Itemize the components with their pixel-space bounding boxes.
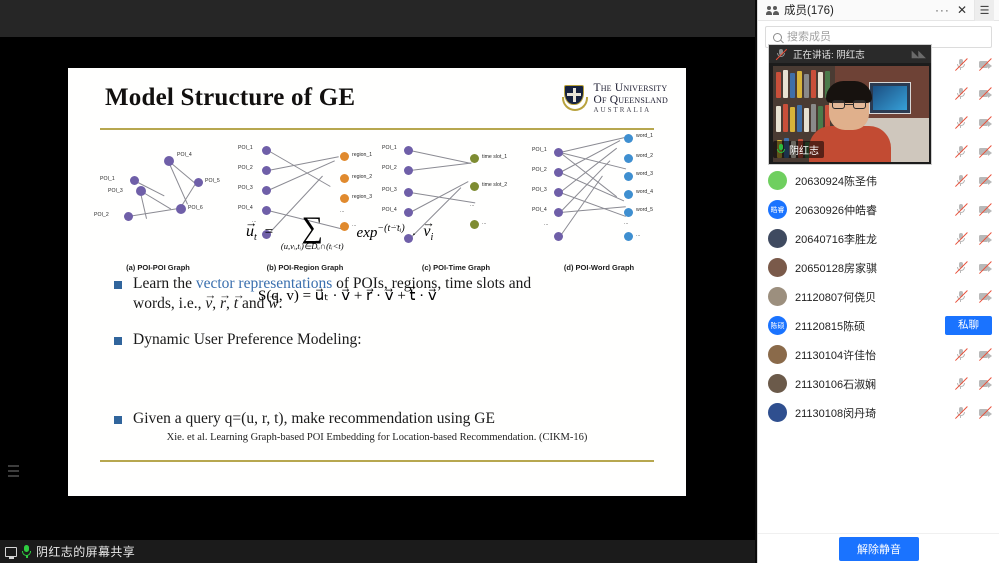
shared-screen-stage: Model Structure of GE The University Of …	[0, 0, 755, 563]
mic-muted-icon[interactable]	[954, 204, 968, 216]
participant-name: 21120815陈硕	[795, 318, 937, 334]
bullet-square-icon	[114, 337, 122, 345]
camera-off-icon[interactable]	[978, 349, 992, 361]
speaking-label: 正在讲话: 阴红志	[793, 47, 906, 61]
camera-off-icon[interactable]	[978, 233, 992, 245]
mic-muted-icon[interactable]	[954, 291, 968, 303]
camera-off-icon[interactable]	[978, 291, 992, 303]
participant-name: 20650128房家骐	[795, 260, 946, 276]
participant-name: 20640716李胜龙	[795, 231, 946, 247]
people-icon	[766, 5, 779, 15]
camera-off-icon[interactable]	[978, 117, 992, 129]
node-label: POI_1	[238, 145, 253, 151]
mic-muted-icon	[775, 48, 787, 60]
eq1-sigma-subscript: (u,vᵢ,tᵢ)∈Dᵤ∩(tᵢ<t)	[281, 241, 344, 252]
node-label: POI_1	[532, 147, 547, 153]
participant-name: 20630926仲皓睿	[795, 202, 946, 218]
graph-caption: (c) POI-Time Graph	[382, 263, 530, 272]
avatar	[768, 171, 787, 190]
uq-logo-line3: AUSTRALIA	[593, 107, 668, 114]
participants-panel: 成员(176) ··· ✕ ☰ 18130335班平平 205	[757, 0, 999, 563]
mic-muted-icon[interactable]	[954, 407, 968, 419]
annotation-list-icon[interactable]	[6, 462, 22, 480]
node-label: word_3	[636, 171, 653, 177]
node-label: POI_3	[532, 187, 547, 193]
eq1-exp-sup: −(t−tᵢ)	[377, 223, 404, 234]
participants-panel-footer: 解除静音	[758, 533, 999, 563]
camera-off-icon[interactable]	[978, 146, 992, 158]
bullet-1-line2-pre: words, i.e.,	[133, 295, 205, 312]
camera-off-icon[interactable]	[978, 262, 992, 274]
node-label: POI_3	[382, 187, 397, 193]
node-label: POI_2	[532, 167, 547, 173]
avatar: 皓睿	[768, 200, 787, 219]
camera-off-icon[interactable]	[978, 204, 992, 216]
close-icon[interactable]: ✕	[955, 3, 969, 17]
list-item[interactable]: 陈硕 21120815陈硕 私聊	[758, 311, 999, 340]
uq-logo: The University Of Queensland AUSTRALIA	[562, 82, 668, 115]
mic-active-icon	[776, 144, 786, 156]
equation-score: S(q, v) = u⃗ₜ · v⃗ + r⃗ · v⃗ + t⃗ · v⃗	[258, 286, 437, 305]
node-label: POI_3	[238, 185, 253, 191]
node-label: POI_4	[238, 205, 253, 211]
node-label: POI_4	[382, 207, 397, 213]
screen-share-status-bar: 阴红志的屏幕共享	[0, 540, 755, 563]
avatar: 陈硕	[768, 316, 787, 335]
bullet-square-icon	[114, 281, 122, 289]
participants-panel-header: 成员(176) ··· ✕ ☰	[758, 0, 999, 21]
mic-muted-icon[interactable]	[954, 233, 968, 245]
avatar	[768, 287, 787, 306]
node-label: word_1	[636, 133, 653, 139]
node-label: region_1	[352, 152, 372, 158]
list-item[interactable]: 皓睿 20630926仲皓睿	[758, 195, 999, 224]
node-label: ...	[624, 220, 628, 226]
participant-name: 21120807何侥贝	[795, 289, 946, 305]
mic-muted-icon[interactable]	[954, 59, 968, 71]
node-label: POI_4	[177, 152, 192, 158]
monitor-icon	[5, 547, 17, 557]
eq1-equals: =	[264, 224, 274, 241]
bullet-2-text: Dynamic User Preference Modeling:	[133, 330, 362, 350]
node-label: ...	[482, 220, 486, 226]
camera-off-icon[interactable]	[978, 59, 992, 71]
unmute-button[interactable]: 解除静音	[839, 537, 919, 561]
search-input[interactable]	[787, 31, 984, 43]
list-item[interactable]: 21120807何侥贝	[758, 282, 999, 311]
hamburger-menu-icon[interactable]: ☰	[974, 0, 994, 21]
camera-off-icon[interactable]	[978, 378, 992, 390]
sigma-icon: ∑	[281, 214, 344, 243]
more-options-icon[interactable]: ···	[935, 3, 950, 17]
node-label: region_3	[352, 194, 372, 200]
speaker-name: 阴红志	[789, 142, 819, 157]
node-label: time slot_2	[482, 182, 507, 188]
search-icon	[773, 33, 782, 42]
node-label: POI_2	[382, 165, 397, 171]
participant-name: 21130104许佳怡	[795, 347, 946, 363]
bullet-square-icon	[114, 416, 122, 424]
node-label: POI_1	[100, 176, 115, 182]
node-label: ...	[544, 221, 548, 227]
node-label: ...	[636, 232, 640, 238]
node-label: ...	[470, 202, 474, 208]
mic-muted-icon[interactable]	[954, 349, 968, 361]
mic-muted-icon[interactable]	[954, 378, 968, 390]
node-label: POI_3	[108, 188, 123, 194]
avatar	[768, 258, 787, 277]
camera-off-icon[interactable]	[978, 175, 992, 187]
list-item[interactable]: 20640716李胜龙	[758, 224, 999, 253]
camera-off-icon[interactable]	[978, 407, 992, 419]
graph-caption: (a) POI-POI Graph	[88, 263, 228, 272]
speaker-name-badge: 阴红志	[773, 141, 824, 158]
bullet-1-pre: Learn the	[133, 275, 196, 292]
avatar	[768, 345, 787, 364]
mic-muted-icon[interactable]	[954, 146, 968, 158]
node-label: word_5	[636, 207, 653, 213]
private-chat-button[interactable]: 私聊	[945, 316, 992, 335]
screen-share-label: 阴红志的屏幕共享	[36, 543, 135, 560]
eq1-lhs-sub: t	[254, 232, 257, 243]
node-label: POI_5	[205, 178, 220, 184]
uq-logo-line1: The University	[593, 82, 668, 94]
active-speaker-video[interactable]: 正在讲话: 阴红志 ◣◣	[768, 44, 932, 165]
graph-caption: (d) POI-Word Graph	[532, 263, 666, 272]
participant-name: 21130106石淑娴	[795, 376, 946, 392]
slide-citation: Xie. et al. Learning Graph-based POI Emb…	[68, 432, 686, 443]
avatar	[768, 374, 787, 393]
node-label: word_4	[636, 189, 653, 195]
participants-title: 成员(176)	[784, 2, 930, 18]
slide-title: Model Structure of GE	[105, 84, 355, 112]
mic-on-icon	[21, 545, 32, 558]
list-item[interactable]: 20650128房家骐	[758, 253, 999, 282]
node-label: POI_2	[94, 212, 109, 218]
mic-muted-icon[interactable]	[954, 262, 968, 274]
list-item[interactable]: 21130104许佳怡	[758, 340, 999, 369]
participant-name: 21130108闵丹琦	[795, 405, 946, 421]
bullet-3-text: Given a query q=(u, r, t), make recommen…	[133, 409, 495, 429]
graph-panel-poi-poi: POI_1 POI_2 POI_3 POI_4 POI_5 POI_6 (a) …	[88, 132, 228, 272]
stage-topbar	[0, 0, 755, 37]
avatar	[768, 403, 787, 422]
node-label: POI_1	[382, 145, 397, 151]
mic-muted-icon[interactable]	[954, 175, 968, 187]
uq-logo-line2: Of Queensland	[593, 94, 668, 106]
participant-name: 20630924陈圣伟	[795, 173, 946, 189]
network-signal-icon: ◣◣	[912, 49, 925, 60]
slide-rule-top	[100, 128, 654, 130]
list-item[interactable]: 20630924陈圣伟	[758, 166, 999, 195]
zoom-meeting-window: Model Structure of GE The University Of …	[0, 0, 999, 563]
node-label: POI_2	[238, 165, 253, 171]
avatar	[768, 229, 787, 248]
node-label: POI_6	[188, 205, 203, 211]
bullet-item-3: Given a query q=(u, r, t), make recommen…	[114, 409, 659, 429]
active-speaker-header: 正在讲话: 阴红志 ◣◣	[769, 45, 931, 63]
equation-user-preference: →ut = ∑ (u,vᵢ,tᵢ)∈Dᵤ∩(tᵢ<t) exp−(t−tᵢ) ·…	[246, 214, 433, 252]
uq-crest-icon	[562, 84, 588, 112]
presentation-slide: Model Structure of GE The University Of …	[68, 68, 686, 496]
mic-muted-icon[interactable]	[954, 117, 968, 129]
slide-rule-bottom	[100, 460, 654, 462]
camera-off-icon[interactable]	[978, 88, 992, 100]
graph-caption: (b) POI-Region Graph	[230, 263, 380, 272]
eq1-summation: ∑ (u,vᵢ,tᵢ)∈Dᵤ∩(tᵢ<t)	[281, 214, 344, 252]
node-label: POI_4	[532, 207, 547, 213]
mic-muted-icon[interactable]	[954, 88, 968, 100]
eq1-rhs-sub: i	[430, 232, 433, 243]
node-label: word_2	[636, 153, 653, 159]
list-item[interactable]: 21130108闵丹琦	[758, 398, 999, 427]
eq1-dot: ·	[412, 225, 417, 241]
node-label: time slot_1	[482, 154, 507, 160]
bullet-item-2: Dynamic User Preference Modeling:	[114, 330, 659, 350]
node-label: region_2	[352, 174, 372, 180]
list-item[interactable]: 21130106石淑娴	[758, 369, 999, 398]
eq1-exp: exp	[357, 225, 378, 241]
graph-panel-poi-word: POI_1 POI_2 POI_3 POI_4 ... word_1 word_…	[532, 132, 666, 272]
